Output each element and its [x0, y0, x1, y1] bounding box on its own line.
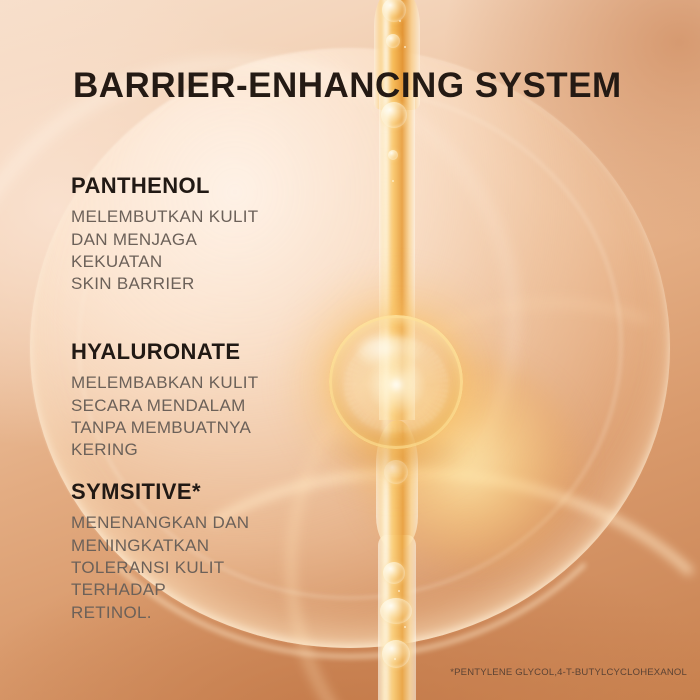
pipette-bubble	[380, 598, 412, 624]
pipette-bubble	[383, 562, 405, 584]
ingredient-block-hyaluronate: HYALURONATE MELEMBABKAN KULIT SECARA MEN…	[71, 340, 331, 462]
pipette-speck	[404, 626, 406, 628]
serum-droplet	[329, 315, 463, 449]
ingredient-name-panthenol: PANTHENOL	[71, 174, 331, 197]
pipette-speck	[399, 20, 401, 22]
page-title: BARRIER-ENHANCING SYSTEM	[73, 66, 622, 106]
droplet-rim	[329, 315, 463, 449]
footnote-text: *PENTYLENE GLYCOL,4-T-BUTYLCYCLOHEXANOL	[450, 667, 687, 678]
ingredient-name-symsitive: SYMSITIVE*	[71, 480, 331, 503]
pipette-bubble	[382, 640, 410, 668]
ingredient-description-panthenol: MELEMBUTKAN KULIT DAN MENJAGA KEKUATAN S…	[71, 206, 331, 296]
ingredient-name-hyaluronate: HYALURONATE	[71, 340, 331, 363]
ingredient-block-panthenol: PANTHENOL MELEMBUTKAN KULIT DAN MENJAGA …	[71, 174, 331, 296]
pipette-speck	[398, 590, 400, 592]
ingredient-description-hyaluronate: MELEMBABKAN KULIT SECARA MENDALAM TANPA …	[71, 372, 331, 462]
pipette-speck	[392, 180, 394, 182]
pipette-speck	[404, 46, 406, 48]
pipette-bubble	[386, 34, 400, 48]
ingredient-block-symsitive: SYMSITIVE* MENENANGKAN DAN MENINGKATKAN …	[71, 480, 331, 624]
pipette-bubble	[388, 150, 398, 160]
ingredient-description-symsitive: MENENANGKAN DAN MENINGKATKAN TOLERANSI K…	[71, 512, 331, 624]
poster-canvas: BARRIER-ENHANCING SYSTEM PANTHENOL MELEM…	[0, 0, 700, 700]
pipette-speck	[394, 658, 396, 660]
